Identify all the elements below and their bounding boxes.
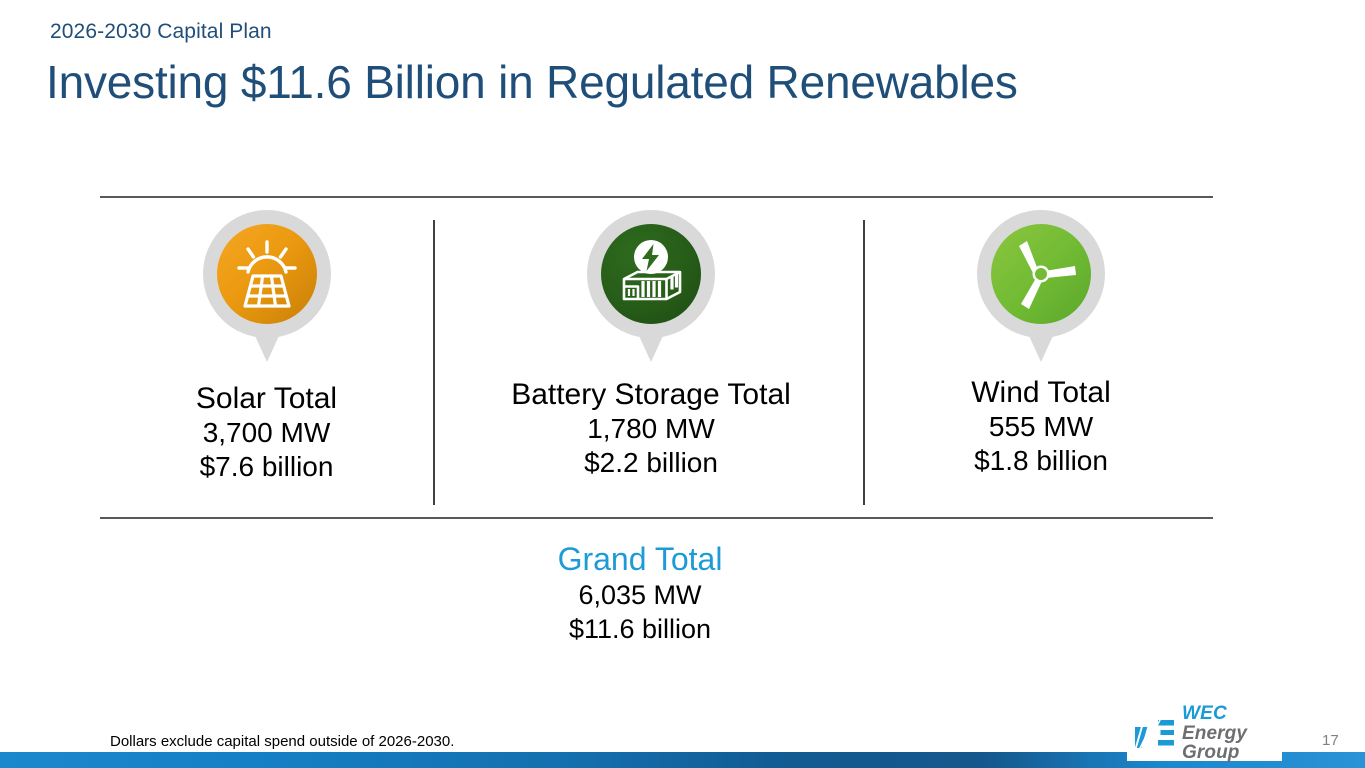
wind-turbine-icon [991,224,1091,324]
category-columns: Solar Total 3,700 MW $7.6 billion [100,210,1213,510]
category-investment: $7.6 billion [100,450,433,484]
solar-panel-icon [217,224,317,324]
bottom-divider-rule [100,517,1213,519]
slide-eyebrow: 2026-2030 Capital Plan [50,20,272,44]
solar-pin-marker [203,210,331,362]
category-capacity: 3,700 MW [100,416,433,450]
category-capacity: 555 MW [869,410,1213,444]
grand-total-investment: $11.6 billion [100,612,1180,646]
category-column-battery: Battery Storage Total 1,780 MW $2.2 bill… [437,210,865,480]
category-column-wind: Wind Total 555 MW $1.8 billion [869,210,1213,478]
category-label: Battery Storage Total [437,378,865,412]
category-investment: $1.8 billion [869,444,1213,478]
category-label: Wind Total [869,376,1213,410]
category-column-solar: Solar Total 3,700 MW $7.6 billion [100,210,433,484]
battery-storage-icon [601,224,701,324]
category-capacity: 1,780 MW [437,412,865,446]
battery-pin-marker [587,210,715,362]
category-label: Solar Total [100,382,433,416]
footnote-text: Dollars exclude capital spend outside of… [110,733,454,750]
logo-secondary-text: Energy Group [1182,724,1282,763]
wec-logo-mark-icon [1135,716,1175,752]
page-title: Investing $11.6 Billion in Regulated Ren… [46,55,1018,109]
category-investment: $2.2 billion [437,446,865,480]
grand-total-block: Grand Total 6,035 MW $11.6 billion [100,540,1180,646]
top-divider-rule [100,196,1213,198]
wind-pin-marker [977,210,1105,362]
grand-total-title: Grand Total [100,540,1180,578]
page-number: 17 [1322,732,1339,749]
grand-total-capacity: 6,035 MW [100,578,1180,612]
wec-energy-group-logo: WEC Energy Group [1127,706,1282,761]
logo-primary-text: WEC [1182,704,1282,723]
